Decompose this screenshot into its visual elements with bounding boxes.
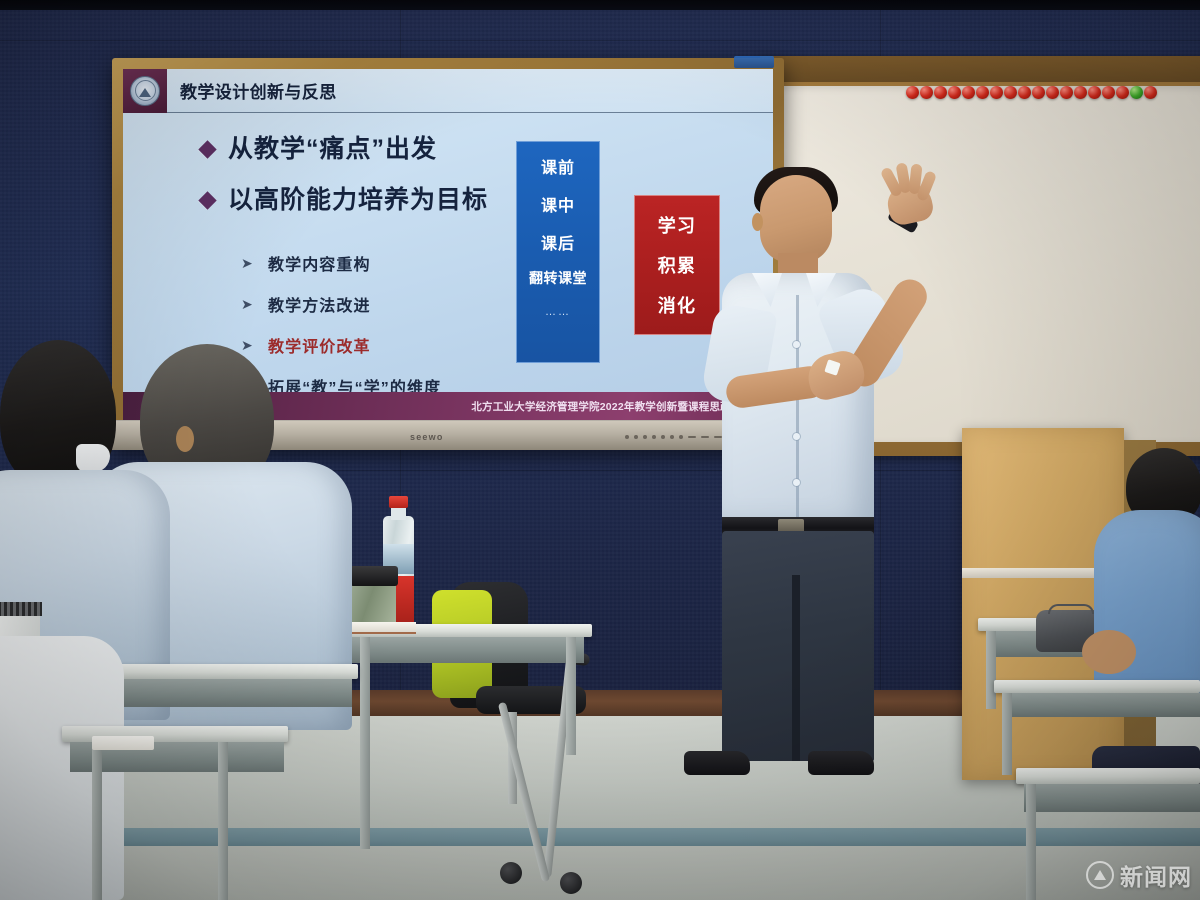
floor-lower	[0, 846, 1200, 900]
desk-front-panel	[1002, 693, 1200, 717]
bag-handle	[1048, 604, 1094, 614]
magnet-red	[990, 86, 1003, 99]
slide-title: 教学设计创新与反思	[180, 78, 337, 103]
diamond-bullet-icon	[198, 140, 216, 158]
news-site-emblem-icon	[1086, 861, 1114, 889]
shirt-button	[793, 341, 800, 348]
magnet-red	[976, 86, 989, 99]
magnet-red	[906, 86, 919, 99]
magnet-red	[962, 86, 975, 99]
sub-bullet-text: 教学方法改进	[268, 292, 371, 316]
diamond-bullet-icon	[198, 191, 216, 209]
bullet-text: 以高阶能力培养为目标	[228, 186, 488, 215]
desk-surface	[1016, 768, 1200, 784]
magnet-red	[1018, 86, 1031, 99]
presenter-head	[760, 175, 832, 263]
magnet-red	[1116, 86, 1129, 99]
desk-leg	[218, 742, 228, 900]
cup-lid	[0, 602, 42, 616]
magnet-green	[1130, 86, 1143, 99]
news-watermark: 新闻网	[1086, 858, 1192, 892]
desk-leg	[360, 637, 370, 849]
magnet-red	[920, 86, 933, 99]
magnet-red	[1074, 86, 1087, 99]
presenter	[660, 155, 960, 780]
trouser-leg-gap	[792, 575, 800, 761]
desk-leg	[1002, 693, 1012, 775]
magnet-red	[948, 86, 961, 99]
magnet-red	[934, 86, 947, 99]
desk-front-panel	[1024, 784, 1200, 812]
chair-caster	[560, 872, 582, 894]
magnet-red	[1004, 86, 1017, 99]
shoe-left	[684, 751, 750, 775]
desk-front-panel	[94, 679, 352, 707]
chair-caster	[500, 862, 522, 884]
notebook	[352, 622, 416, 634]
magnet-red	[1060, 86, 1073, 99]
university-emblem-icon	[130, 76, 160, 106]
desk-front-panel	[338, 637, 584, 663]
panel-logo-badge	[734, 56, 774, 68]
whiteboard-top-rail	[760, 56, 1200, 82]
shirt-button	[793, 479, 800, 486]
desk-leg	[1026, 784, 1036, 900]
classroom-scene: 教学设计创新与反思 从教学“痛点”出发 以高阶能力培养为目标	[0, 0, 1200, 900]
magnet-red	[1046, 86, 1059, 99]
sub-bullet-text: 教学内容重构	[268, 251, 371, 275]
desk-leg	[92, 742, 102, 900]
tea-jar-lid	[350, 566, 398, 586]
presenter-hand-right	[882, 163, 940, 225]
phase-ellipsis: ……	[545, 306, 571, 318]
slide-logo-band	[123, 69, 167, 113]
blue-phase-box: 课前 课中 课后 翻转课堂 ……	[516, 141, 600, 363]
audience-ear	[176, 426, 194, 452]
magnet-red	[1088, 86, 1101, 99]
bottle-cap	[389, 496, 408, 508]
phase-label: 课中	[541, 192, 575, 216]
tea-jar	[352, 580, 396, 628]
desk-surface	[86, 664, 358, 679]
phase-label: 课前	[541, 154, 575, 178]
desk-leg	[986, 631, 996, 709]
magnet-red	[1144, 86, 1157, 99]
shoe-right	[808, 751, 874, 775]
watermark-text: 新闻网	[1120, 858, 1192, 892]
arrow-bullet-icon: ➤	[241, 256, 255, 270]
magnet-red	[1032, 86, 1045, 99]
phase-label: 翻转课堂	[529, 268, 587, 288]
phase-label: 课后	[541, 230, 575, 254]
slide-header: 教学设计创新与反思	[123, 69, 773, 113]
sub-bullet-text-highlighted: 教学评价改革	[268, 333, 371, 357]
magnet-red	[1102, 86, 1115, 99]
bullet-text: 从教学“痛点”出发	[228, 135, 437, 164]
notepad	[92, 736, 154, 750]
audience-arm	[1082, 630, 1136, 674]
shirt-button	[793, 433, 800, 440]
panel-brand-label: seewo	[410, 432, 444, 442]
desk-leg	[566, 637, 576, 755]
arrow-bullet-icon: ➤	[241, 297, 255, 311]
magnet-row	[906, 86, 1157, 99]
desk-surface	[994, 680, 1200, 693]
arrow-bullet-icon: ➤	[241, 338, 255, 352]
wall-panel-seam	[0, 40, 1200, 41]
presenter-ear	[752, 213, 763, 231]
